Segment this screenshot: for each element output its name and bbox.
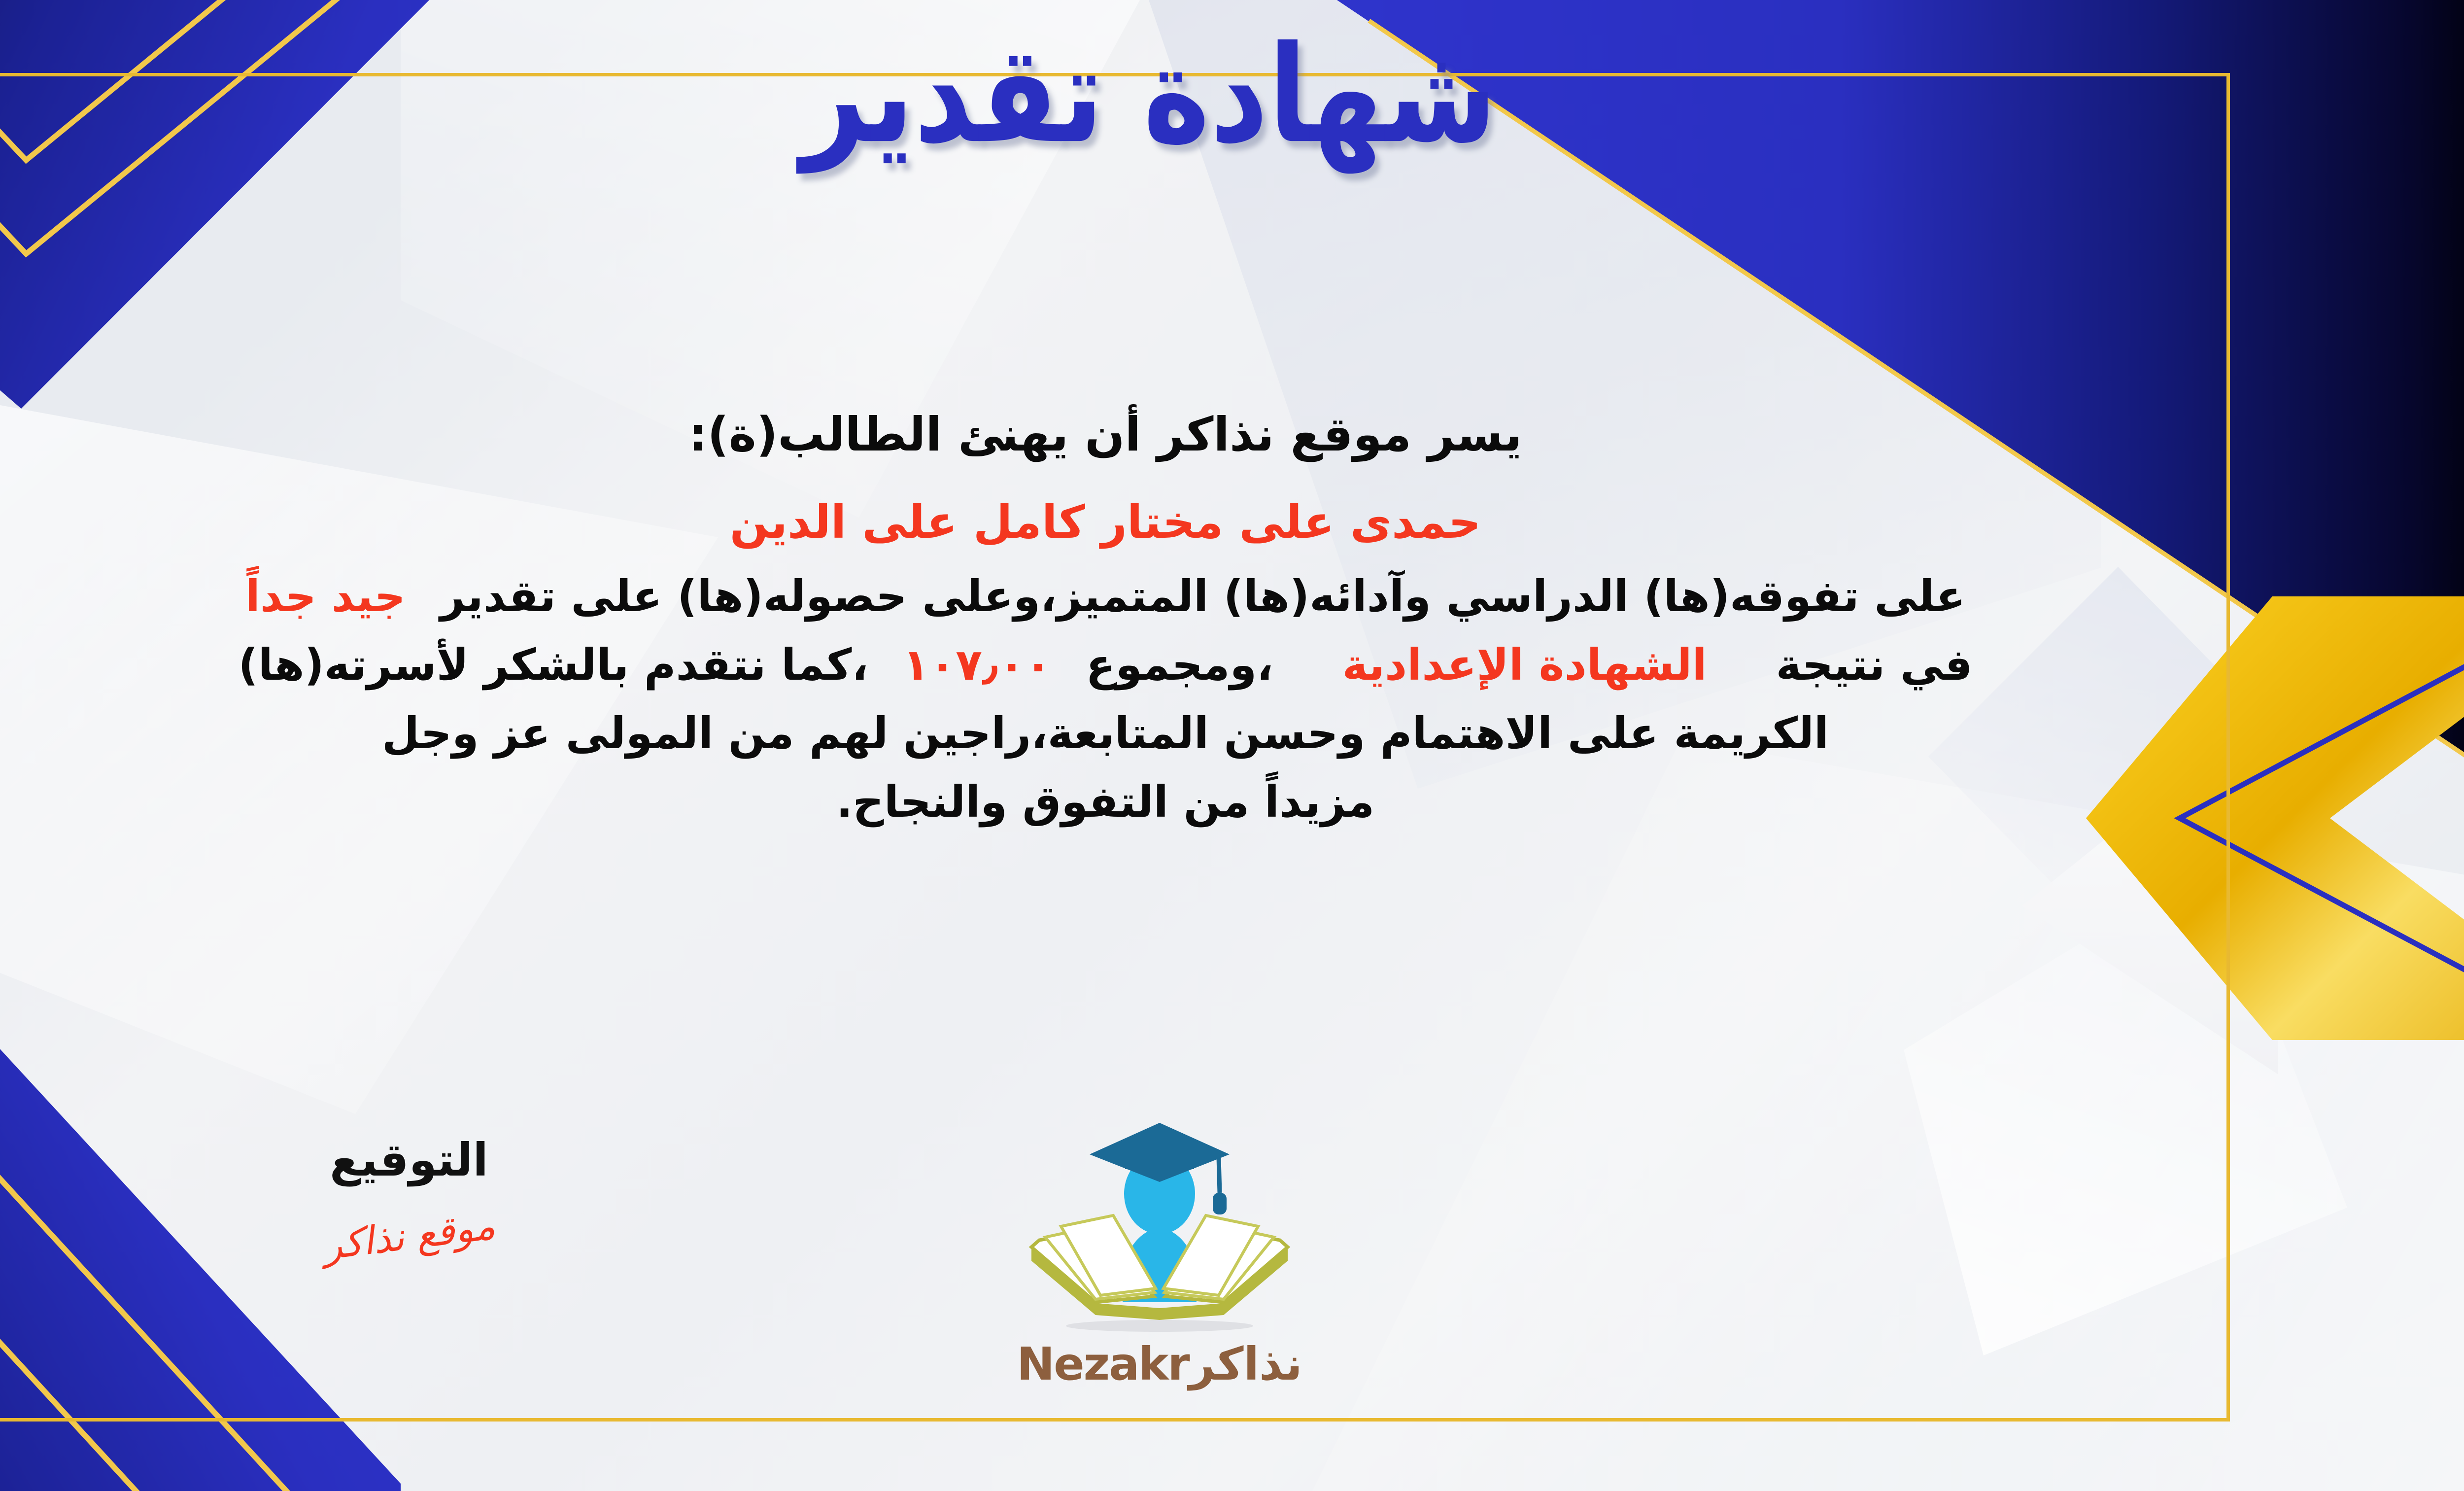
graduation-book-icon [1022, 1119, 1298, 1336]
nezakr-logo: Nezakrنذاكر [1007, 1119, 1312, 1415]
bottom-right-wedge [2119, 1284, 2464, 1491]
certificate-body: يسر موقع نذاكر أن يهنئ الطالب(ة): حمدى ع… [0, 399, 2229, 836]
citation-line-1: على تفوقه(ها) الدراسي وآدائه(ها) المتميز… [0, 562, 2229, 630]
signature-script: موقع نذاكر [321, 1204, 498, 1269]
frame-border-bottom [0, 1418, 2227, 1422]
exam-name: الشهادة الإعدادية [1342, 639, 1707, 690]
background-polygon-d [1312, 739, 2464, 1491]
logo-arabic: نذاكر [1189, 1338, 1302, 1390]
signature-block: التوقيع موقع نذاكر [237, 1134, 582, 1258]
student-name: حمدى على مختار كامل على الدين [0, 488, 2229, 557]
signature-label: التوقيع [237, 1134, 582, 1186]
logo-latin: Nezakr [1017, 1338, 1189, 1390]
citation-line-2-suffix: ،كما نتقدم بالشكر لأسرته(ها) [238, 639, 868, 690]
citation-line-2: في نتيجةالشهادة الإعدادية،ومجموع١٠٧٫٠٠،ك… [0, 630, 2229, 699]
logo-wordmark: Nezakrنذاكر [1007, 1338, 1312, 1390]
citation-line-3: الكريمة على الاهتمام وحسن المتابعة،راجين… [0, 699, 2229, 767]
citation-line-4: مزيداً من التفوق والنجاح. [0, 767, 2229, 836]
total-value: ١٠٧٫٠٠ [903, 639, 1051, 690]
background-polygon-f [1904, 863, 2347, 1355]
total-label: ،ومجموع [1086, 639, 1273, 690]
grade-value: جيد جداً [245, 571, 406, 622]
certificate-title: شهادة تقدير [0, 18, 2464, 173]
intro-line: يسر موقع نذاكر أن يهنئ الطالب(ة): [0, 399, 2229, 470]
certificate-canvas: شهادة تقدير يسر موقع نذاكر أن يهنئ الطال… [0, 0, 2464, 1491]
citation-paragraph: على تفوقه(ها) الدراسي وآدائه(ها) المتميز… [0, 562, 2229, 836]
citation-line-2-prefix: في نتيجة [1776, 639, 1973, 690]
citation-line-1-text: على تفوقه(ها) الدراسي وآدائه(ها) المتميز… [440, 571, 1965, 622]
